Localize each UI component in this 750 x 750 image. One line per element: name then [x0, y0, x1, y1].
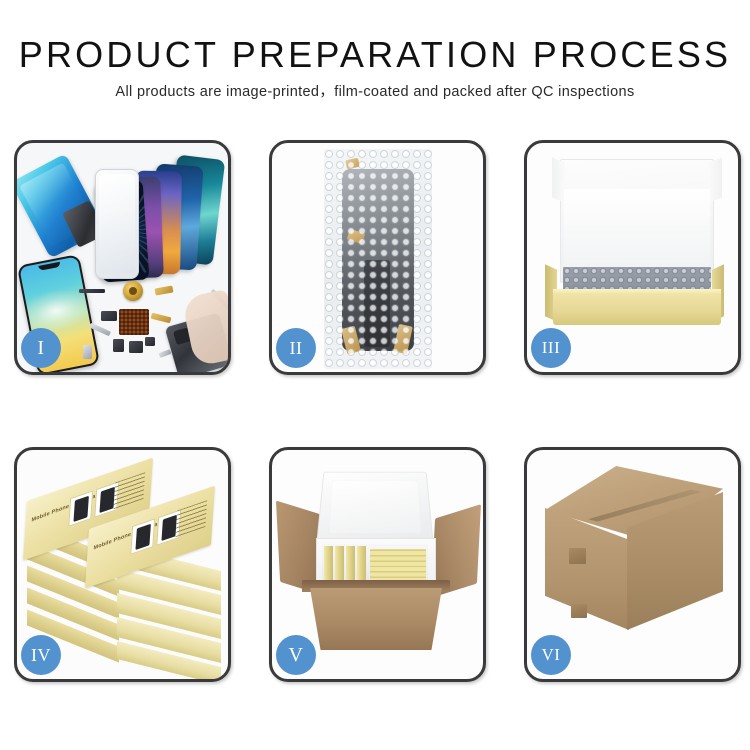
- small-part-button: [113, 339, 124, 352]
- inner-box-front: [553, 293, 721, 325]
- small-part-strip: [79, 289, 105, 293]
- bubble-wrap-bag: [324, 149, 432, 369]
- yellow-box-3: [346, 546, 355, 582]
- step-badge-4: IV: [21, 635, 61, 675]
- carton-front-panel: [310, 588, 442, 650]
- small-part-ic: [145, 337, 155, 346]
- foam-lid-upright: [316, 472, 434, 545]
- step-badge-3: III: [531, 328, 571, 368]
- phone-notch: [38, 262, 61, 271]
- box-spec-lines-second: [175, 500, 207, 537]
- copper-coil-part: [123, 281, 143, 301]
- page-title: PRODUCT PREPARATION PROCESS: [0, 34, 750, 76]
- small-part-bracket: [89, 323, 111, 337]
- box-spec-lines-top: [113, 472, 145, 509]
- process-step-panel-5: V: [269, 447, 486, 682]
- step-badge-1: I: [21, 328, 61, 368]
- product-preparation-infographic: PRODUCT PREPARATION PROCESS All products…: [0, 0, 750, 750]
- carton-hand-hole-lower: [571, 604, 587, 618]
- small-part-screwset: [159, 349, 172, 358]
- tempered-glass-sheet: [95, 169, 139, 279]
- process-step-panel-4: Mobile Phone Spare Parts Mobile Phone Sp…: [14, 447, 231, 682]
- small-part-chip: [101, 311, 117, 321]
- yellow-box-1: [324, 546, 333, 582]
- step-badge-2: II: [276, 328, 316, 368]
- small-part-gold: [155, 285, 174, 295]
- step-badge-5: V: [276, 635, 316, 675]
- yellow-box-2: [335, 546, 344, 582]
- wrapped-phone-part: [342, 169, 414, 351]
- process-step-panel-3: III: [524, 140, 741, 375]
- step-badge-6: VI: [531, 635, 571, 675]
- process-step-panel-2: II: [269, 140, 486, 375]
- process-step-panel-1: I: [14, 140, 231, 375]
- yellow-box-stack-flat: [370, 549, 426, 582]
- box-window-left-second: [130, 518, 155, 555]
- small-part-sim-tray: [83, 345, 92, 359]
- header: PRODUCT PREPARATION PROCESS All products…: [0, 34, 750, 101]
- yellow-boxes-in-carton: [324, 546, 426, 582]
- small-part-flex: [151, 313, 172, 324]
- tape-piece-top: [345, 158, 360, 170]
- yellow-box-4: [357, 546, 366, 582]
- connector-grid-part: [119, 309, 149, 335]
- process-steps-grid: I II: [14, 140, 736, 688]
- process-step-panel-6: VI: [524, 447, 741, 682]
- foam-sheet: [564, 189, 710, 267]
- box-window-left-top: [68, 490, 93, 527]
- carton-hand-hole-upper: [569, 548, 586, 564]
- small-part-module: [129, 341, 143, 353]
- page-subtitle: All products are image-printed，film-coat…: [0, 83, 750, 101]
